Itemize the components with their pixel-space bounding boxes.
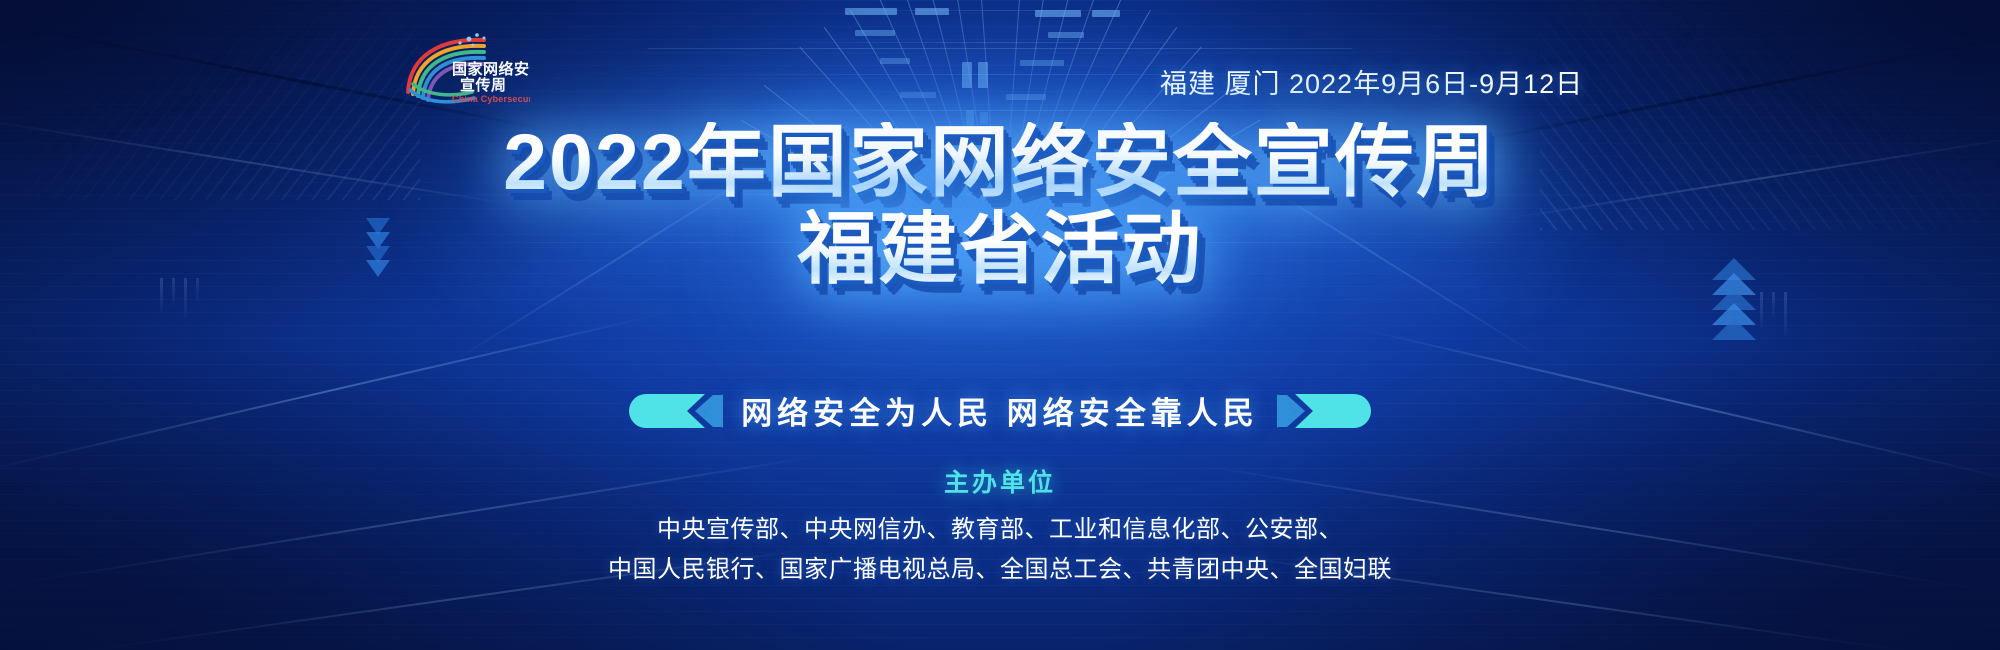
slogan-row: 网络安全为人民 网络安全靠人民 bbox=[0, 388, 2000, 433]
china-cybersecurity-week-logo: 国家网络安全 宣传周 China Cybersecurity Week bbox=[400, 30, 530, 108]
title-line-2: 福建省活动 bbox=[0, 209, 2000, 290]
organizers-heading: 主办单位 bbox=[0, 463, 2000, 499]
slogan-text: 网络安全为人民 网络安全靠人民 bbox=[741, 388, 1259, 433]
page-title: 2022年国家网络安全宣传周 福建省活动 bbox=[0, 122, 2000, 289]
logo-cn-line2: 宣传周 bbox=[460, 76, 507, 94]
organizers-list: 中央宣传部、中央网信办、教育部、工业和信息化部、公安部、 中国人民银行、国家广播… bbox=[0, 510, 2000, 589]
title-line-1: 2022年国家网络安全宣传周 bbox=[0, 122, 2000, 203]
cybersecurity-week-banner: 国家网络安全 宣传周 China Cybersecurity Week 福建 厦… bbox=[0, 0, 2000, 650]
event-date-location: 福建 厦门 2022年9月6日-9月12日 bbox=[1160, 62, 1583, 101]
organizers-line: 中央宣传部、中央网信办、教育部、工业和信息化部、公安部、 bbox=[0, 510, 2000, 550]
logo-cn-line1: 国家网络安全 bbox=[452, 60, 530, 78]
logo-en-text: China Cybersecurity Week bbox=[452, 94, 530, 104]
organizers-line: 中国人民银行、国家广播电视总局、全国总工会、共青团中央、全国妇联 bbox=[0, 550, 2000, 590]
right-chevron-decoration bbox=[1277, 392, 1373, 430]
left-chevron-decoration bbox=[627, 392, 723, 430]
